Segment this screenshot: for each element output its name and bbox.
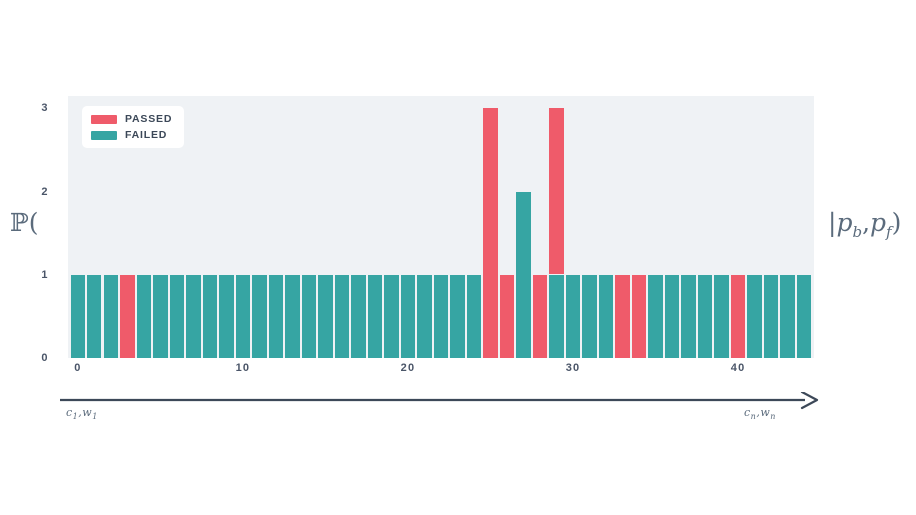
bar-column	[104, 275, 118, 358]
bar-segment-failed	[153, 275, 167, 358]
bar-segment-failed	[335, 275, 349, 358]
bar-column	[120, 275, 134, 358]
bar-segment-failed	[318, 275, 332, 358]
bar-column	[467, 275, 481, 358]
legend-label-passed: PASSED	[125, 113, 172, 125]
bar-column	[665, 275, 679, 358]
axis-end-label: cn,wn	[744, 406, 776, 421]
bar-column	[450, 275, 464, 358]
bar-column	[285, 275, 299, 358]
bar-column	[714, 275, 728, 358]
bar-segment-failed	[186, 275, 200, 358]
bar-segment-passed	[500, 275, 514, 358]
bar-column	[269, 275, 283, 358]
bar-segment-passed	[731, 275, 745, 358]
bar-column	[648, 275, 662, 358]
y-tick-label: 2	[41, 186, 48, 198]
bar-column	[219, 275, 233, 358]
bar-segment-failed	[137, 275, 151, 358]
legend-label-failed: FAILED	[125, 129, 167, 141]
bar-segment-failed	[714, 275, 728, 358]
bar-segment-failed	[170, 275, 184, 358]
bar-column	[236, 275, 250, 358]
bar-column	[731, 275, 745, 358]
left-probability-label: ℙ(	[10, 208, 39, 237]
bar-segment-failed	[566, 275, 580, 358]
bar-segment-passed	[632, 275, 646, 358]
bar-segment-failed	[797, 275, 811, 358]
y-tick-label: 3	[41, 102, 48, 114]
y-tick-label: 0	[41, 352, 48, 364]
bar-column	[615, 275, 629, 358]
bar-segment-failed	[351, 275, 365, 358]
bar-column	[764, 275, 778, 358]
bar-segment-failed	[236, 275, 250, 358]
bar-segment-failed	[698, 275, 712, 358]
bar-segment-failed	[681, 275, 695, 358]
bar-column	[500, 275, 514, 358]
legend-item-passed: PASSED	[91, 113, 172, 125]
bar-column	[747, 275, 761, 358]
bar-column	[582, 275, 596, 358]
bar-column	[599, 275, 613, 358]
bar-column	[401, 275, 415, 358]
bar-column	[302, 275, 316, 358]
bar-column	[87, 275, 101, 358]
bar-column	[797, 275, 811, 358]
bar-segment-failed	[582, 275, 596, 358]
bar-column	[170, 275, 184, 358]
bar-column	[698, 275, 712, 358]
bar-segment-passed	[615, 275, 629, 358]
bar-segment-failed	[516, 192, 530, 358]
bar-column	[483, 108, 497, 358]
bar-column	[434, 275, 448, 358]
x-tick-label: 0	[74, 362, 81, 374]
y-tick-label: 1	[41, 269, 48, 281]
axis-start-label: c1,w1	[66, 406, 98, 421]
bar-segment-failed	[219, 275, 233, 358]
bar-segment-failed	[780, 275, 794, 358]
bar-column	[417, 275, 431, 358]
bar-column	[252, 275, 266, 358]
bar-column	[681, 275, 695, 358]
bar-segment-failed	[665, 275, 679, 358]
bar-column	[780, 275, 794, 358]
bar-segment-failed	[599, 275, 613, 358]
bar-segment-failed	[467, 275, 481, 358]
axis-arrow	[60, 392, 822, 414]
bar-column	[516, 192, 530, 358]
bar-segment-passed	[533, 275, 547, 358]
bar-segment-passed	[120, 275, 134, 358]
x-axis: 010203040	[68, 362, 814, 384]
bar-column	[351, 275, 365, 358]
bar-column	[384, 275, 398, 358]
chart-figure: 0123 PASSED FAILED 010203040 c1,w1 cn,wn…	[0, 0, 916, 515]
right-condition-label: |pb,pf)	[828, 208, 901, 241]
x-tick-label: 10	[236, 362, 251, 374]
legend-swatch-passed	[91, 115, 117, 124]
bar-column	[335, 275, 349, 358]
bar-segment-failed	[450, 275, 464, 358]
x-tick-label: 40	[731, 362, 746, 374]
bar-segment-failed	[384, 275, 398, 358]
bar-column	[368, 275, 382, 358]
bar-segment-failed	[104, 275, 118, 358]
bar-segment-failed	[71, 275, 85, 358]
bar-segment-failed	[549, 275, 563, 358]
bar-segment-failed	[368, 275, 382, 358]
arrow-icon	[60, 392, 822, 414]
bar-segment-failed	[417, 275, 431, 358]
legend-item-failed: FAILED	[91, 129, 172, 141]
x-tick-label: 20	[401, 362, 416, 374]
bar-segment-failed	[648, 275, 662, 358]
bar-segment-failed	[285, 275, 299, 358]
bar-segment-failed	[269, 275, 283, 358]
bar-segment-failed	[87, 275, 101, 358]
bar-column	[186, 275, 200, 358]
bar-segment-failed	[302, 275, 316, 358]
bar-column	[153, 275, 167, 358]
bar-segment-passed	[549, 108, 563, 274]
bar-column	[71, 275, 85, 358]
bar-column	[318, 275, 332, 358]
bar-segment-passed	[483, 108, 497, 358]
x-tick-label: 30	[566, 362, 581, 374]
legend-swatch-failed	[91, 131, 117, 140]
bar-column	[137, 275, 151, 358]
bar-segment-failed	[401, 275, 415, 358]
bar-column	[549, 108, 563, 358]
bar-column	[566, 275, 580, 358]
legend: PASSED FAILED	[82, 106, 184, 148]
bar-column	[632, 275, 646, 358]
bar-segment-failed	[252, 275, 266, 358]
bar-segment-failed	[764, 275, 778, 358]
bar-segment-failed	[747, 275, 761, 358]
bar-column	[533, 275, 547, 358]
bar-column	[203, 275, 217, 358]
bar-segment-failed	[434, 275, 448, 358]
bar-segment-failed	[203, 275, 217, 358]
